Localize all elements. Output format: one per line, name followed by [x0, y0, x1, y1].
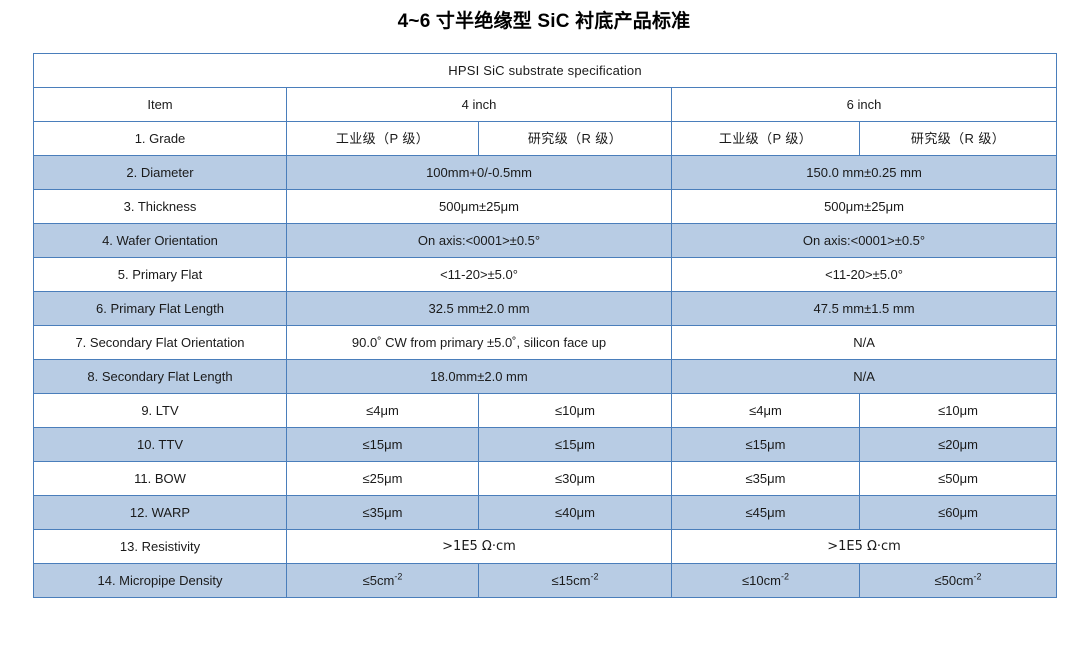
row-value-4inch-r: 研究级（R 级）: [479, 122, 672, 156]
row-value-6inch-r: ≤20μm: [860, 428, 1057, 462]
row-item-label: 3. Thickness: [34, 190, 287, 224]
row-value-4inch-r: ≤40μm: [479, 496, 672, 530]
row-value-4inch-r: ≤10μm: [479, 394, 672, 428]
row-value-4inch: 100mm+0/-0.5mm: [287, 156, 672, 190]
table-row: 3. Thickness 500μm±25μm 500μm±25μm: [34, 190, 1057, 224]
row-item-label: 12. WARP: [34, 496, 287, 530]
row-value-4inch-p: ≤5cm-2: [287, 564, 479, 598]
row-value-6inch-r: ≤50cm-2: [860, 564, 1057, 598]
row-value-4inch-r: ≤15μm: [479, 428, 672, 462]
row-value-4inch: 18.0mm±2.0 mm: [287, 360, 672, 394]
spec-table: HPSI SiC substrate specification Item 4 …: [33, 53, 1057, 598]
row-value-6inch: <11-20>±5.0°: [672, 258, 1057, 292]
row-item-label: 6. Primary Flat Length: [34, 292, 287, 326]
spec-table-container: HPSI SiC substrate specification Item 4 …: [33, 53, 1056, 598]
row-value-6inch-r: 研究级（R 级）: [860, 122, 1057, 156]
table-row: 12. WARP ≤35μm ≤40μm ≤45μm ≤60μm: [34, 496, 1057, 530]
column-header-4inch: 4 inch: [287, 88, 672, 122]
row-item-label: 10. TTV: [34, 428, 287, 462]
row-item-label: 1. Grade: [34, 122, 287, 156]
row-item-label: 7. Secondary Flat Orientation: [34, 326, 287, 360]
table-header-row: Item 4 inch 6 inch: [34, 88, 1057, 122]
table-row: 5. Primary Flat <11-20>±5.0° <11-20>±5.0…: [34, 258, 1057, 292]
row-value-6inch-p: 工业级（P 级）: [672, 122, 860, 156]
row-item-label: 9. LTV: [34, 394, 287, 428]
row-value-6inch-p: ≤10cm-2: [672, 564, 860, 598]
row-item-label: 2. Diameter: [34, 156, 287, 190]
row-value-6inch: N/A: [672, 360, 1057, 394]
table-row: 8. Secondary Flat Length 18.0mm±2.0 mm N…: [34, 360, 1057, 394]
row-value-4inch-p: ≤35μm: [287, 496, 479, 530]
table-row: 14. Micropipe Density ≤5cm-2 ≤15cm-2 ≤10…: [34, 564, 1057, 598]
table-row: 2. Diameter 100mm+0/-0.5mm 150.0 mm±0.25…: [34, 156, 1057, 190]
table-row: 13. Resistivity >1E5 Ω·cm >1E5 Ω·cm: [34, 530, 1057, 564]
row-value-6inch-r: ≤60μm: [860, 496, 1057, 530]
row-item-label: 8. Secondary Flat Length: [34, 360, 287, 394]
value-base: ≤5cm: [363, 573, 395, 588]
value-exponent: -2: [781, 571, 789, 581]
row-value-4inch-r: ≤15cm-2: [479, 564, 672, 598]
table-row: 6. Primary Flat Length 32.5 mm±2.0 mm 47…: [34, 292, 1057, 326]
row-value-4inch: 32.5 mm±2.0 mm: [287, 292, 672, 326]
row-value-6inch: 500μm±25μm: [672, 190, 1057, 224]
column-header-6inch: 6 inch: [672, 88, 1057, 122]
row-value-6inch: 150.0 mm±0.25 mm: [672, 156, 1057, 190]
row-value-4inch: >1E5 Ω·cm: [287, 530, 672, 564]
row-value-6inch-p: ≤45μm: [672, 496, 860, 530]
row-value-6inch: >1E5 Ω·cm: [672, 530, 1057, 564]
value-base: ≤50cm: [935, 573, 974, 588]
page-title: 4~6 寸半绝缘型 SiC 衬底产品标准: [0, 0, 1088, 35]
row-value-6inch-p: ≤35μm: [672, 462, 860, 496]
table-row: 9. LTV ≤4μm ≤10μm ≤4μm ≤10μm: [34, 394, 1057, 428]
table-caption-row: HPSI SiC substrate specification: [34, 54, 1057, 88]
row-value-6inch: N/A: [672, 326, 1057, 360]
page-root: 4~6 寸半绝缘型 SiC 衬底产品标准 HPSI SiC substrate …: [0, 0, 1088, 648]
row-value-4inch-p: 工业级（P 级）: [287, 122, 479, 156]
row-item-label: 4. Wafer Orientation: [34, 224, 287, 258]
value-base: ≤15cm: [552, 573, 591, 588]
spec-table-body: HPSI SiC substrate specification Item 4 …: [34, 54, 1057, 598]
row-value-4inch: On axis:<0001>±0.5°: [287, 224, 672, 258]
value-exponent: -2: [973, 571, 981, 581]
table-row: 1. Grade 工业级（P 级） 研究级（R 级） 工业级（P 级） 研究级（…: [34, 122, 1057, 156]
row-value-6inch-p: ≤4μm: [672, 394, 860, 428]
table-row: 10. TTV ≤15μm ≤15μm ≤15μm ≤20μm: [34, 428, 1057, 462]
column-header-item: Item: [34, 88, 287, 122]
row-value-6inch: 47.5 mm±1.5 mm: [672, 292, 1057, 326]
value-exponent: -2: [590, 571, 598, 581]
row-value-6inch-p: ≤15μm: [672, 428, 860, 462]
row-item-label: 14. Micropipe Density: [34, 564, 287, 598]
row-item-label: 5. Primary Flat: [34, 258, 287, 292]
value-base: ≤10cm: [742, 573, 781, 588]
row-value-6inch: On axis:<0001>±0.5°: [672, 224, 1057, 258]
table-row: 7. Secondary Flat Orientation 90.0˚ CW f…: [34, 326, 1057, 360]
value-exponent: -2: [394, 571, 402, 581]
row-value-6inch-r: ≤10μm: [860, 394, 1057, 428]
row-value-4inch: 500μm±25μm: [287, 190, 672, 224]
table-caption: HPSI SiC substrate specification: [34, 54, 1057, 88]
row-value-4inch-p: ≤25μm: [287, 462, 479, 496]
row-value-4inch-r: ≤30μm: [479, 462, 672, 496]
row-value-4inch-p: ≤4μm: [287, 394, 479, 428]
row-value-4inch: <11-20>±5.0°: [287, 258, 672, 292]
row-item-label: 11. BOW: [34, 462, 287, 496]
table-row: 4. Wafer Orientation On axis:<0001>±0.5°…: [34, 224, 1057, 258]
row-item-label: 13. Resistivity: [34, 530, 287, 564]
row-value-6inch-r: ≤50μm: [860, 462, 1057, 496]
row-value-4inch-p: ≤15μm: [287, 428, 479, 462]
row-value-4inch: 90.0˚ CW from primary ±5.0˚, silicon fac…: [287, 326, 672, 360]
table-row: 11. BOW ≤25μm ≤30μm ≤35μm ≤50μm: [34, 462, 1057, 496]
